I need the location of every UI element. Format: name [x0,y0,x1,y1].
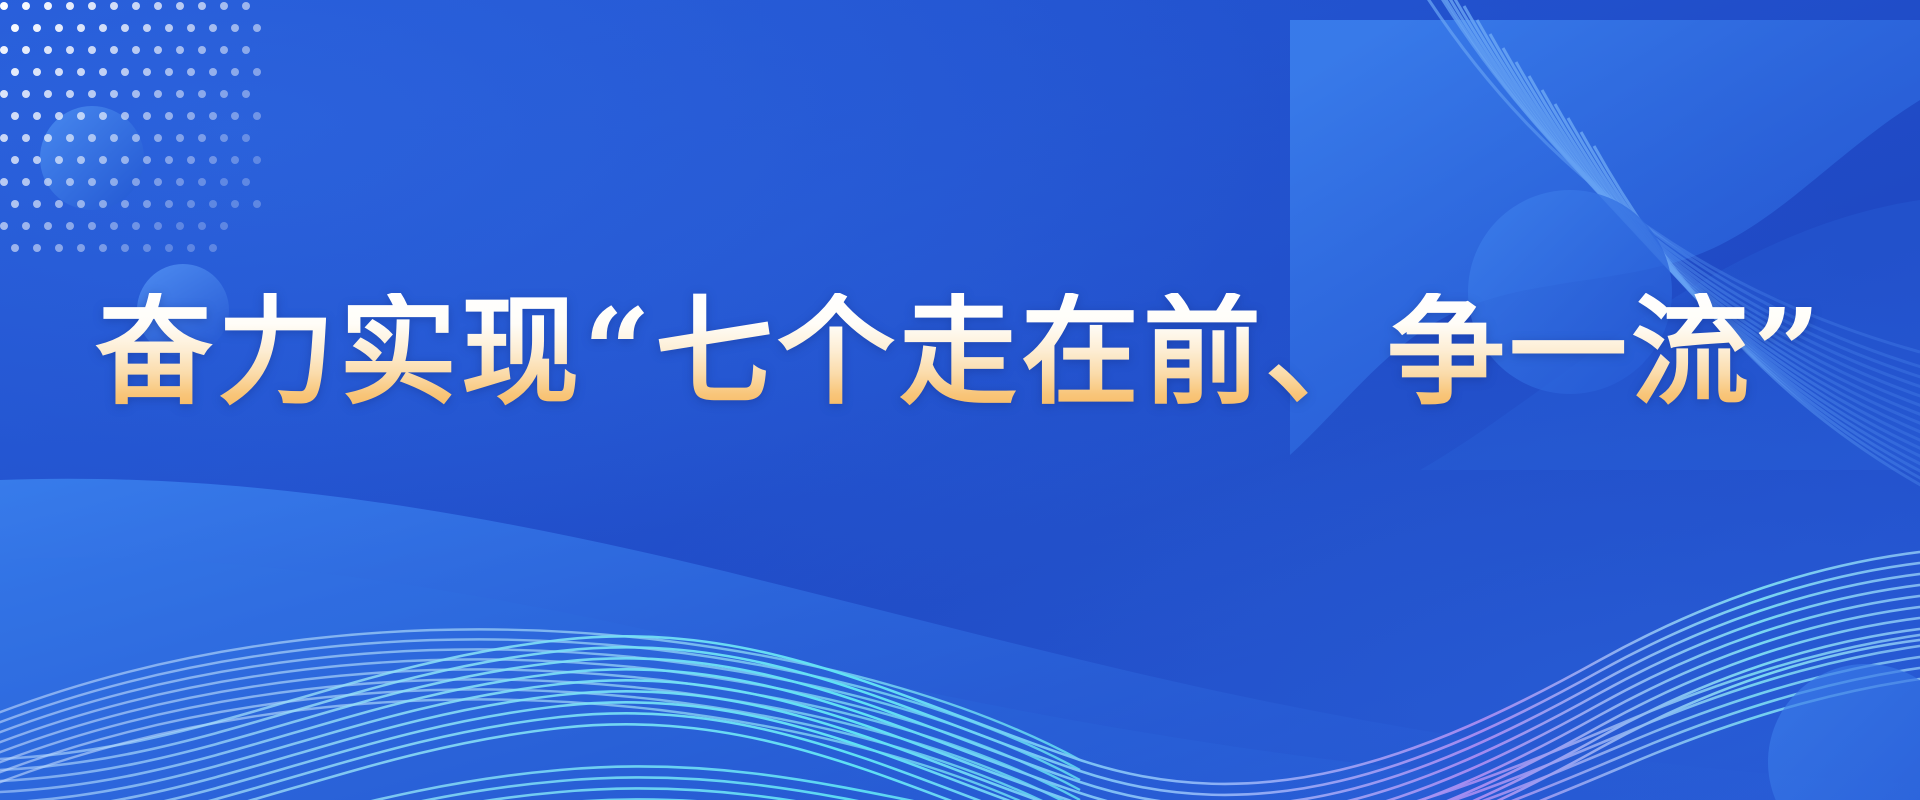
circle-text-accent [137,264,229,356]
circle-right [1468,190,1672,394]
background-graphics [0,0,1920,800]
banner-canvas: 奋力实现“七个走在前、争一流” [0,0,1920,800]
